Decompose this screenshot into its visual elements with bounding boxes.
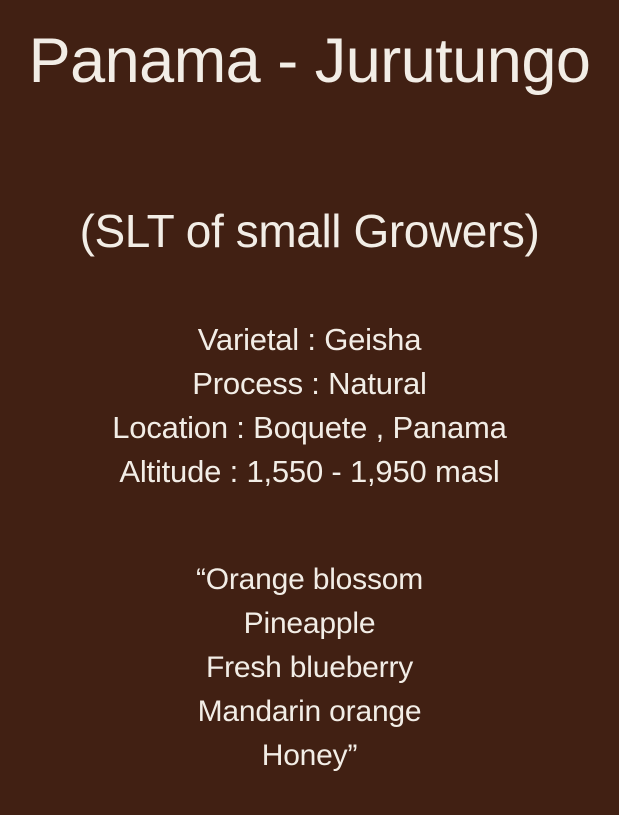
spec-row-process: Process : Natural [0,362,619,406]
page-title: Panama - Jurutungo [0,30,619,93]
spec-value: Geisha [324,322,421,357]
spec-label: Location [112,410,228,445]
spec-row-location: Location : Boquete , Panama [0,406,619,450]
tasting-note-item: Pineapple [0,602,619,646]
spec-list: Varietal : Geisha Process : Natural Loca… [0,318,619,494]
spec-value: Natural [328,366,427,401]
spec-separator: : [228,410,253,445]
coffee-info-card: Panama - Jurutungo (SLT of small Growers… [0,0,619,815]
spec-value: Boquete , Panama [253,410,507,445]
spec-row-altitude: Altitude : 1,550 - 1,950 masl [0,450,619,494]
spec-label: Varietal [198,322,299,357]
spec-separator: : [299,322,324,357]
tasting-note-item: Honey” [0,734,619,778]
spec-row-varietal: Varietal : Geisha [0,318,619,362]
spec-separator: : [221,454,246,489]
tasting-note-item: Fresh blueberry [0,646,619,690]
card-subtitle: (SLT of small Growers) [0,208,619,254]
spec-value: 1,550 - 1,950 masl [246,454,499,489]
tasting-notes-list: “Orange blossom Pineapple Fresh blueberr… [0,558,619,778]
spec-label: Process [192,366,303,401]
tasting-note-item: Mandarin orange [0,690,619,734]
tasting-note-item: “Orange blossom [0,558,619,602]
spec-separator: : [303,366,328,401]
spec-label: Altitude [119,454,221,489]
